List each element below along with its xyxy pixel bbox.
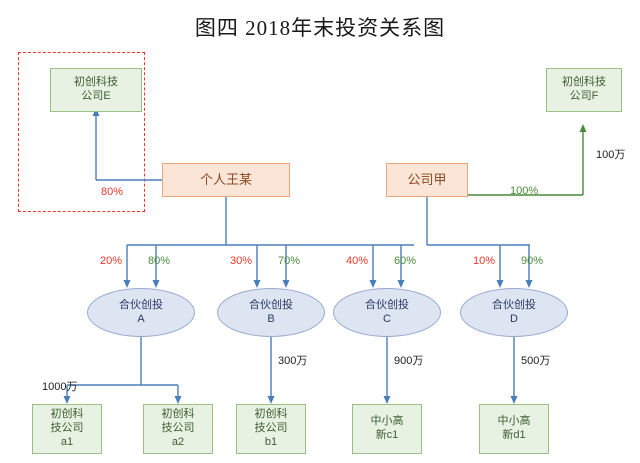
node-partnership-c[interactable]: 合伙创投 C [333,288,441,337]
label-b-red-percent: 30% [230,255,252,267]
node-company-f[interactable]: 初创科技 公司F [546,68,622,112]
node-company-b1[interactable]: 初创科 技公司 b1 [236,404,306,454]
label-a-green-percent: 80% [148,255,170,267]
label-e-percent: 80% [101,186,123,198]
node-company-a2[interactable]: 初创科 技公司 a2 [143,404,213,454]
label-d-red-percent: 10% [473,255,495,267]
node-company-jia[interactable]: 公司甲 [386,163,468,197]
label-b-green-percent: 70% [278,255,300,267]
label-c-red-percent: 40% [346,255,368,267]
node-partnership-a[interactable]: 合伙创投 A [87,288,195,337]
label-c-amount: 900万 [394,352,423,368]
node-partnership-b[interactable]: 合伙创投 B [217,288,325,337]
node-company-e[interactable]: 初创科技 公司E [50,68,142,112]
label-d-green-percent: 90% [521,255,543,267]
label-b-amount: 300万 [278,352,307,368]
node-partnership-d[interactable]: 合伙创投 D [460,288,568,337]
node-company-c1[interactable]: 中小高 新c1 [352,404,422,454]
label-a-amount: 1000万 [42,378,77,394]
label-a-red-percent: 20% [100,255,122,267]
label-d-amount: 500万 [521,352,550,368]
node-company-a1[interactable]: 初创科 技公司 a1 [32,404,102,454]
label-f-amount: 100万 [596,146,625,162]
label-c-green-percent: 60% [394,255,416,267]
node-company-d1[interactable]: 中小高 新d1 [479,404,549,454]
diagram-root: 图四 2018年末投资关系图 [0,0,640,463]
label-f-percent: 100% [510,185,538,197]
node-individual-wang[interactable]: 个人王某 [162,163,290,197]
